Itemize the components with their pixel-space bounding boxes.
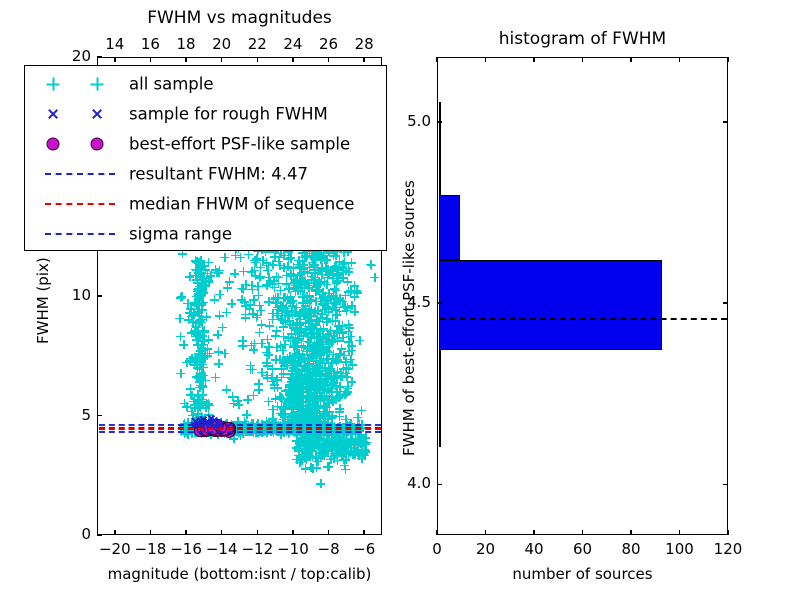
circle-icon xyxy=(47,138,60,151)
hist-x-tick-top xyxy=(533,57,535,62)
x-tick-top xyxy=(185,57,187,62)
dashed-line-icon xyxy=(45,203,115,205)
left-panel-title: FWHM vs magnitudes xyxy=(97,8,382,28)
x-tick-top xyxy=(328,57,330,62)
histogram-title: histogram of FWHM xyxy=(437,29,728,49)
cross-icon xyxy=(47,108,59,120)
histogram-bar xyxy=(439,260,662,350)
legend-row: sigma range xyxy=(25,219,386,249)
hist-x-tick xyxy=(727,530,729,535)
legend-label: all sample xyxy=(129,75,214,94)
legend-label: best-effort PSF-like sample xyxy=(129,135,350,154)
legend-sample-cross-marker xyxy=(39,102,121,126)
y-tick xyxy=(97,534,102,536)
x-tick-bottom xyxy=(257,530,259,535)
hist-x-tick xyxy=(630,530,632,535)
scatter-y-axis-label: FWHM (pix) xyxy=(34,257,52,344)
legend-row: all sample xyxy=(25,69,386,99)
scatter-x-axis-label: magnitude (bottom:isnt / top:calib) xyxy=(97,565,382,583)
reference-line-sigma-range-upper xyxy=(99,424,381,426)
hist-y-tick-right xyxy=(723,302,728,304)
legend-sample-dashed-line xyxy=(39,162,121,186)
hist-x-tick-top xyxy=(436,57,438,62)
histogram-plot-area xyxy=(439,59,727,534)
histogram-median-line xyxy=(439,318,727,320)
hist-y-tick-right xyxy=(723,484,728,486)
legend-row: median FHWM of sequence xyxy=(25,189,386,219)
x-tick-bottom xyxy=(150,530,152,535)
x-tick-label-bottom: −6 xyxy=(338,540,390,558)
hist-y-tick xyxy=(437,302,442,304)
hist-x-tick-label: 40 xyxy=(508,540,560,558)
hist-y-tick xyxy=(437,484,442,486)
hist-x-tick-top xyxy=(485,57,487,62)
plus-icon xyxy=(91,78,104,91)
x-tick-top xyxy=(150,57,152,62)
hist-y-tick-label: 5.0 xyxy=(389,112,431,130)
legend-label: sigma range xyxy=(129,225,232,244)
hist-x-tick xyxy=(582,530,584,535)
histogram-bar xyxy=(439,408,441,448)
hist-y-tick xyxy=(437,121,442,123)
x-tick-top xyxy=(292,57,294,62)
x-tick-top xyxy=(257,57,259,62)
hist-x-tick-label: 0 xyxy=(411,540,463,558)
x-tick-bottom xyxy=(114,530,116,535)
legend-label: sample for rough FWHM xyxy=(129,105,328,124)
y-tick xyxy=(97,415,102,417)
y-tick-label: 10 xyxy=(51,286,91,304)
cross-icon xyxy=(91,108,103,120)
dashdot-line-icon xyxy=(45,233,115,235)
hist-y-tick-right xyxy=(723,121,728,123)
reference-line-median-FHWM-of-sequence xyxy=(99,428,381,430)
circle-icon xyxy=(91,138,104,151)
x-tick-top xyxy=(221,57,223,62)
hist-x-tick-top xyxy=(679,57,681,62)
hist-y-tick-label: 4.0 xyxy=(389,474,431,492)
legend-box: all samplesample for rough FWHMbest-effo… xyxy=(24,65,387,251)
x-tick-bottom xyxy=(363,530,365,535)
hist-x-tick xyxy=(533,530,535,535)
legend-sample-circle-marker xyxy=(39,132,121,156)
legend-sample-dashed-line xyxy=(39,192,121,216)
legend-label: median FHWM of sequence xyxy=(129,195,354,214)
hist-x-tick-top xyxy=(630,57,632,62)
legend-row: best-effort PSF-like sample xyxy=(25,129,386,159)
x-tick-top xyxy=(114,57,116,62)
hist-x-tick-top xyxy=(582,57,584,62)
y-tick xyxy=(97,56,102,58)
histogram-y-axis-label: FWHM of best-effort PSF-like sources xyxy=(400,180,418,456)
hist-x-tick-label: 20 xyxy=(460,540,512,558)
x-tick-bottom xyxy=(221,530,223,535)
hist-x-tick xyxy=(679,530,681,535)
hist-x-tick-label: 100 xyxy=(654,540,706,558)
legend-row: resultant FWHM: 4.47 xyxy=(25,159,386,189)
hist-x-tick xyxy=(436,530,438,535)
dashed-line-icon xyxy=(45,173,115,175)
histogram-bar xyxy=(439,195,461,260)
x-tick-label-top: 28 xyxy=(338,35,390,53)
legend-row: sample for rough FWHM xyxy=(25,99,386,129)
y-tick-label: 20 xyxy=(51,47,91,65)
hist-x-tick-label: 80 xyxy=(605,540,657,558)
legend-sample-dashdot-line xyxy=(39,222,121,246)
histogram-bar xyxy=(439,350,441,408)
y-tick-label: 0 xyxy=(51,525,91,543)
legend-label: resultant FWHM: 4.47 xyxy=(129,165,308,184)
histogram-bar xyxy=(439,113,441,196)
histogram-x-axis-label: number of sources xyxy=(437,565,728,583)
x-tick-bottom xyxy=(185,530,187,535)
y-tick xyxy=(97,295,102,297)
legend-sample-plus-marker xyxy=(39,72,121,96)
hist-x-tick-label: 60 xyxy=(557,540,609,558)
hist-x-tick xyxy=(485,530,487,535)
hist-x-tick-top xyxy=(727,57,729,62)
x-tick-bottom xyxy=(328,530,330,535)
x-tick-top xyxy=(363,57,365,62)
y-tick-label: 5 xyxy=(51,406,91,424)
x-tick-bottom xyxy=(292,530,294,535)
histogram-bars-layer xyxy=(439,59,727,534)
hist-x-tick-label: 120 xyxy=(702,540,754,558)
reference-line-sigma-range-lower xyxy=(99,431,381,433)
plus-icon xyxy=(47,78,60,91)
figure-canvas: FWHM vs magnitudes −20−18−16−14−12−10−8−… xyxy=(0,0,800,600)
histogram-bar xyxy=(439,102,441,113)
